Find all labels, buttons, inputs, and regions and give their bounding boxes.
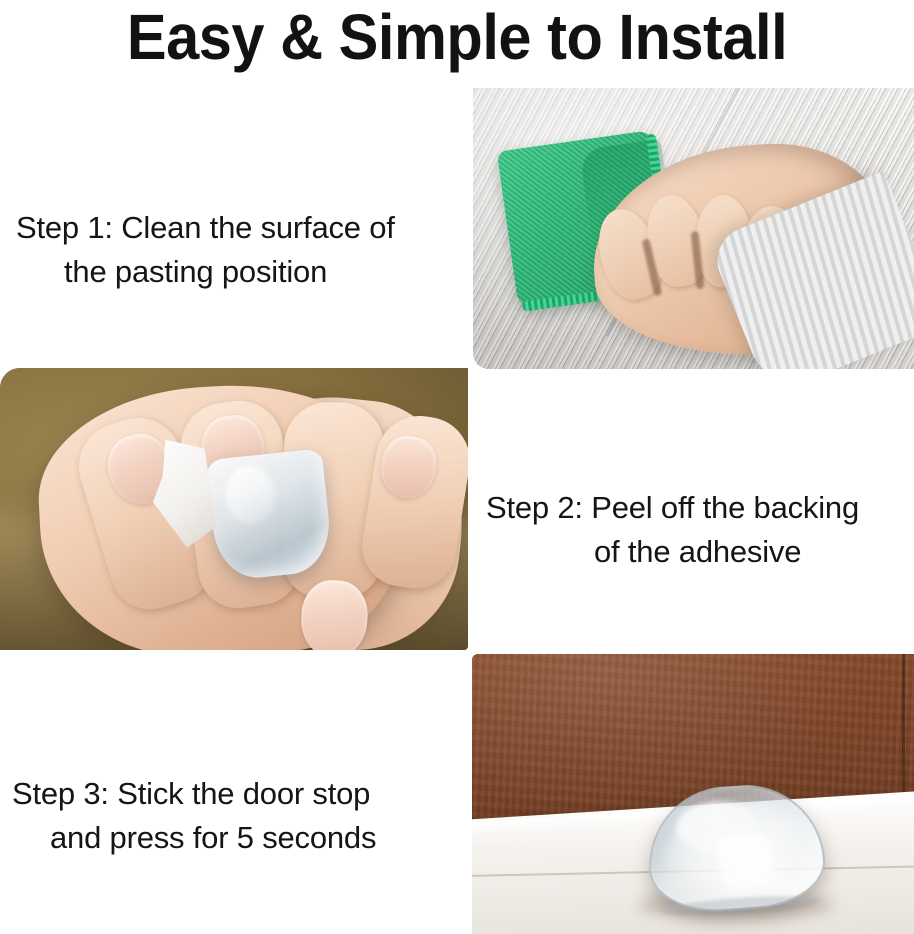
step-2-line-1: Step 2: Peel off the backing	[486, 490, 859, 525]
fingernail-3	[299, 579, 369, 650]
stopper-highlight	[223, 463, 278, 526]
step-2-caption: Step 2: Peel off the backing of the adhe…	[486, 486, 859, 574]
step-1-caption: Step 1: Clean the surface of the pasting…	[16, 206, 395, 294]
peel-backing-photo	[0, 368, 468, 650]
install-instructions-infographic: Easy & Simple to Install Step 1: Clean t…	[0, 0, 914, 934]
dome-reflection	[716, 831, 776, 892]
page-title: Easy & Simple to Install	[32, 2, 882, 72]
installed-door-stop-photo	[472, 654, 914, 934]
cleaning-surface-photo	[473, 88, 914, 369]
step-3-caption: Step 3: Stick the door stop and press fo…	[12, 772, 376, 860]
step-1-line-2: the pasting position	[16, 250, 395, 294]
step-3-line-2: and press for 5 seconds	[12, 816, 376, 860]
step-3-line-1: Step 3: Stick the door stop	[12, 776, 370, 811]
step-2-line-2: of the adhesive	[486, 530, 859, 574]
knit-sleeve	[707, 171, 914, 369]
step-1-line-1: Step 1: Clean the surface of	[16, 210, 395, 245]
